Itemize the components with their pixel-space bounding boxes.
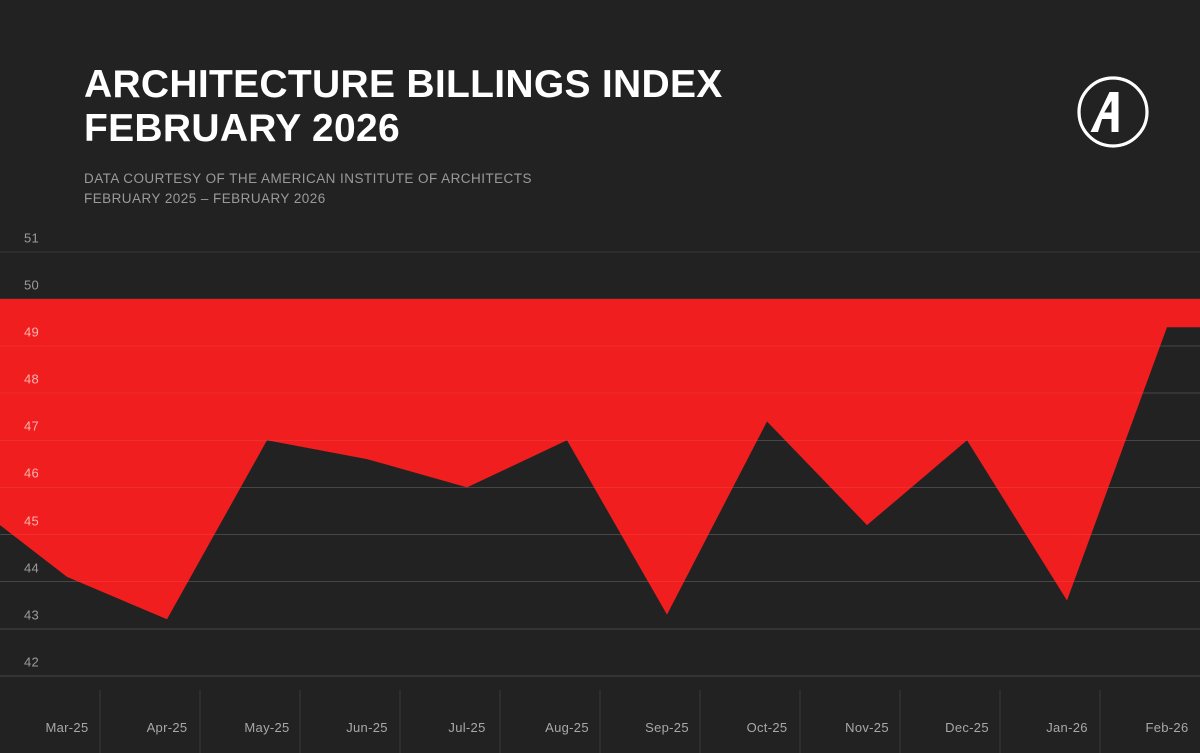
y-axis-tick-label: 43	[24, 607, 39, 622]
y-axis-tick-label: 42	[24, 654, 39, 669]
page-title: ARCHITECTURE BILLINGS INDEX FEBRUARY 202…	[84, 63, 1084, 151]
x-axis-tick-label: Nov-25	[845, 720, 889, 735]
x-axis-tick-label: Aug-25	[545, 720, 589, 735]
y-axis-tick-label: 50	[24, 277, 39, 292]
circled-a-logo-icon	[1076, 75, 1150, 149]
page-title-line-2: FEBRUARY 2026	[84, 107, 1084, 151]
y-axis-tick-label: 45	[24, 513, 39, 528]
y-axis-tick-label: 48	[24, 372, 39, 387]
x-axis-tick-label: Jul-25	[448, 720, 485, 735]
x-axis-tick-label: Jun-25	[346, 720, 388, 735]
y-axis-tick-label: 51	[24, 230, 39, 245]
chart-page: 42434445464748495051 Mar-25Apr-25May-25J…	[0, 0, 1200, 753]
page-subtitle-line-2: FEBRUARY 2025 – FEBRUARY 2026	[84, 189, 1084, 209]
x-axis-tick-label: Oct-25	[747, 720, 788, 735]
y-axis-tick-label: 46	[24, 466, 39, 481]
x-axis-tick-label: May-25	[244, 720, 289, 735]
page-subtitle: DATA COURTESY OF THE AMERICAN INSTITUTE …	[84, 169, 1084, 209]
y-axis-tick-label: 44	[24, 560, 39, 575]
page-title-line-1: ARCHITECTURE BILLINGS INDEX	[84, 63, 1084, 107]
x-axis-tick-label: Dec-25	[945, 720, 989, 735]
x-axis-tick-label: Jan-26	[1046, 720, 1088, 735]
x-axis-tick-label: Sep-25	[645, 720, 689, 735]
y-axis-tick-label: 47	[24, 419, 39, 434]
chart-header: ARCHITECTURE BILLINGS INDEX FEBRUARY 202…	[84, 63, 1084, 209]
page-subtitle-line-1: DATA COURTESY OF THE AMERICAN INSTITUTE …	[84, 169, 1084, 189]
x-axis-tick-label: Apr-25	[147, 720, 188, 735]
y-axis-tick-label: 49	[24, 325, 39, 340]
x-axis-tick-label: Mar-25	[46, 720, 89, 735]
x-axis-tick-label: Feb-26	[1146, 720, 1189, 735]
